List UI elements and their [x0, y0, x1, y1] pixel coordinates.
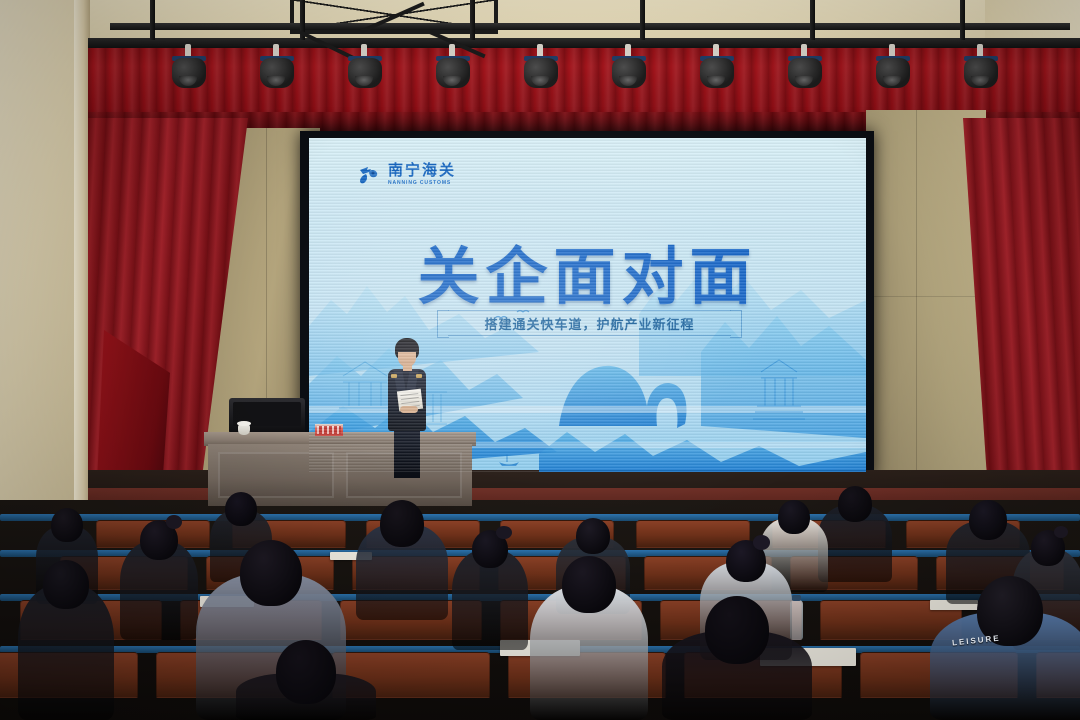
hair-bun	[496, 526, 511, 539]
audience-member	[18, 560, 114, 720]
panel-seam-horizontal	[866, 296, 986, 297]
audience-member	[818, 486, 892, 582]
audience-member	[930, 576, 1080, 720]
audience-member-head	[43, 560, 89, 609]
audience-member	[120, 520, 198, 640]
audience-member-head	[778, 500, 810, 534]
audience-member-head	[838, 486, 872, 522]
audience-member	[236, 640, 376, 720]
tabletop-card	[315, 424, 343, 436]
hair-bun	[1054, 526, 1068, 538]
truss-vertical-support	[470, 0, 475, 40]
truss-vertical-support	[640, 0, 645, 40]
truss-vertical-support	[960, 0, 965, 40]
stage-light-fixture	[698, 44, 736, 88]
audience-member-head	[240, 540, 302, 606]
audience-member-head	[225, 492, 257, 526]
speaker-hands	[400, 406, 418, 413]
stage-light-fixture	[522, 44, 560, 88]
audience-member	[530, 556, 648, 720]
truss-vertical-support	[150, 0, 155, 40]
audience-member	[356, 500, 448, 620]
truss-vertical-support	[810, 0, 815, 40]
logo-en-name: NANNING CUSTOMS	[388, 181, 456, 186]
speaker-shoulder-insignia-left	[391, 374, 397, 378]
teacup	[238, 424, 250, 435]
hair-bun	[166, 515, 182, 529]
audience-member-head	[51, 508, 83, 542]
audience-member	[662, 596, 812, 720]
audience-member-head	[705, 596, 769, 664]
stage-light-fixture	[786, 44, 824, 88]
hair-bun	[753, 535, 770, 549]
slide-subtitle: 搭建通关快车道，护航产业新征程	[437, 314, 742, 333]
stage-light-fixture	[610, 44, 648, 88]
slide-title: 关企面对面	[309, 226, 866, 316]
customs-emblem-icon	[357, 162, 383, 188]
slide-logo: 南宁海关 NANNING CUSTOMS	[357, 162, 456, 188]
audience-member-head	[576, 518, 610, 554]
audience-member-head	[276, 640, 336, 704]
audience-member-head	[562, 556, 616, 613]
stage-light-fixture	[170, 44, 208, 88]
panel-seam	[916, 110, 917, 505]
conference-hall-photo: 南宁海关 NANNING CUSTOMS 关企面对面 搭建通关快车道，护航产业新…	[0, 0, 1080, 720]
teacup-lid	[237, 421, 251, 426]
stage-light-fixture	[258, 44, 296, 88]
stage-light-fixture	[434, 44, 472, 88]
card-stripes	[317, 426, 341, 434]
speaker-presenter	[378, 338, 434, 478]
speaker-neck	[403, 364, 412, 371]
speaker-hair-fringe	[396, 342, 418, 352]
stage-light-fixture	[962, 44, 1000, 88]
slide-subtitle-frame: 搭建通关快车道，护航产业新征程	[437, 310, 742, 336]
logo-wordmark: 南宁海关 NANNING CUSTOMS	[388, 164, 456, 187]
speaker-shoulder-insignia-right	[416, 374, 422, 378]
speaker-legs	[394, 428, 420, 478]
audience-member-head	[380, 500, 424, 547]
stage-light-fixture	[874, 44, 912, 88]
truss-upper-bar	[110, 23, 1070, 30]
stage-light-fixture	[346, 44, 384, 88]
audience-member-head	[969, 500, 1007, 540]
audience-member	[452, 530, 528, 650]
logo-cn-name: 南宁海关	[388, 164, 456, 180]
truss-lower-bar	[88, 38, 1080, 48]
